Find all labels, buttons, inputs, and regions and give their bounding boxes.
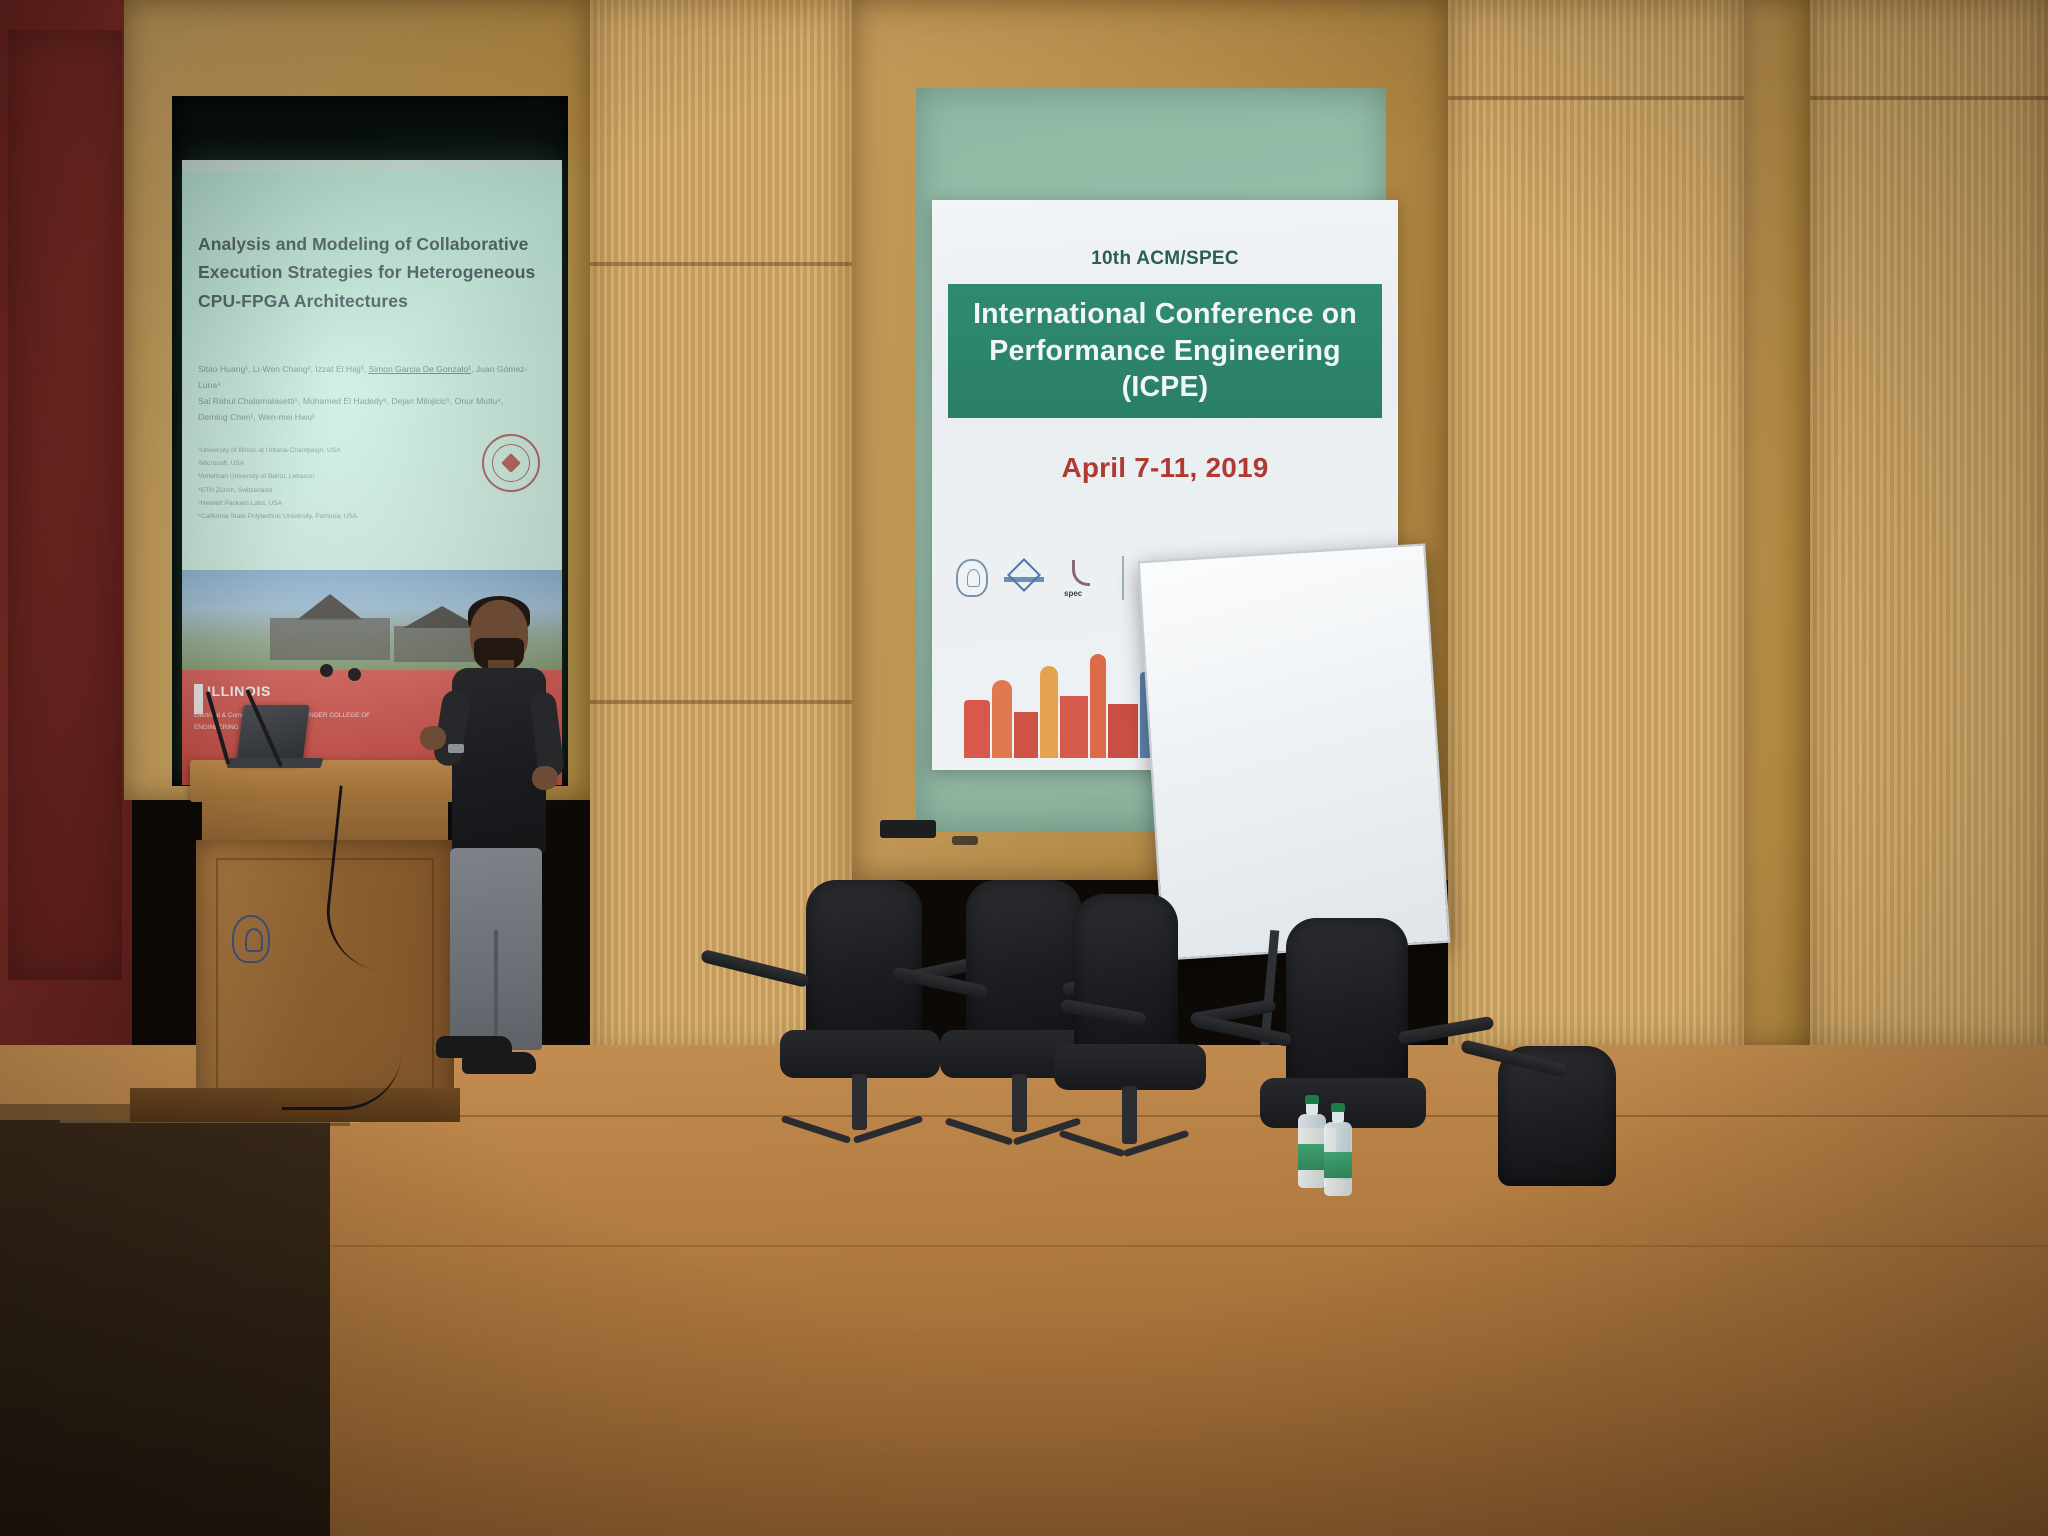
- bottle-label: [1298, 1144, 1326, 1170]
- slide-top-margin: [182, 160, 562, 172]
- ledge-object: [880, 820, 936, 838]
- speaker-wristwatch: [448, 744, 464, 753]
- bottle-cap: [1331, 1103, 1345, 1112]
- slide-footer-org: ILLINOIS: [207, 683, 271, 699]
- auditorium-scene: Analysis and Modeling of Collaborative E…: [0, 0, 2048, 1536]
- institute-crest-icon: [232, 915, 270, 963]
- panel-seam: [1810, 96, 2048, 100]
- banner-title-block: International Conference on Performance …: [948, 284, 1382, 418]
- slide-title: Analysis and Modeling of Collaborative E…: [198, 230, 550, 315]
- panel-seam: [590, 262, 852, 266]
- university-seal-icon: [482, 434, 540, 492]
- affiliation-item: ⁵Hewlett Packard Labs, USA: [198, 497, 546, 510]
- acm-logo-icon: [1004, 559, 1044, 597]
- speaker-hand-right: [532, 766, 558, 790]
- panel-seam: [1448, 96, 1744, 100]
- banner-title-line-2: Performance Engineering (ICPE): [948, 333, 1382, 406]
- wall-panel-right: [1448, 0, 1744, 1050]
- spec-logo-label: spec: [1064, 589, 1082, 598]
- photo-roof-shape: [278, 594, 382, 620]
- banner-edition: 10th ACM/SPEC: [932, 248, 1398, 270]
- photo-building: [270, 618, 390, 660]
- wall-pillar-right: [1744, 0, 1810, 1046]
- speaker-hand-left: [420, 726, 446, 750]
- microphone-head: [320, 664, 333, 677]
- flipchart-board[interactable]: [1138, 543, 1451, 960]
- spec-logo-icon: spec: [1060, 558, 1106, 598]
- iit-seal-logo-icon: [956, 559, 988, 597]
- microphone-head: [348, 668, 361, 681]
- affiliation-item: ⁶California State Polytechnic University…: [198, 510, 546, 523]
- water-bottle[interactable]: [1324, 1122, 1352, 1196]
- banner-dates: April 7-11, 2019: [932, 452, 1398, 484]
- stage-front-face: [0, 1120, 330, 1536]
- slide-author-list: Sitao Huang¹, Li-Wen Chang², Izzat El Ha…: [198, 362, 548, 426]
- speaker-leg-separation: [494, 930, 498, 1052]
- speaker-shoe-right: [462, 1052, 536, 1074]
- wall-panel-far-right: [1810, 0, 2048, 1046]
- ledge-object-small: [952, 836, 978, 845]
- sponsor-divider: [1122, 556, 1124, 600]
- bottle-cap: [1305, 1095, 1319, 1104]
- left-red-wall: [0, 0, 132, 1100]
- water-bottle[interactable]: [1298, 1114, 1326, 1188]
- cable: [321, 785, 435, 974]
- bottle-label: [1324, 1152, 1352, 1178]
- author-line-3: Deming Chen¹, Wen-mei Hwu¹: [198, 412, 315, 422]
- author-highlighted: Simon Garcia De Gonzalo¹: [368, 364, 471, 374]
- banner-title-line-1: International Conference on: [973, 296, 1357, 332]
- author-line-1: Sitao Huang¹, Li-Wen Chang², Izzat El Ha…: [198, 364, 368, 374]
- author-line-2: Sai Rahul Chalamalasetti⁵, Mohamed El Ha…: [198, 396, 503, 406]
- panel-seam: [590, 700, 852, 704]
